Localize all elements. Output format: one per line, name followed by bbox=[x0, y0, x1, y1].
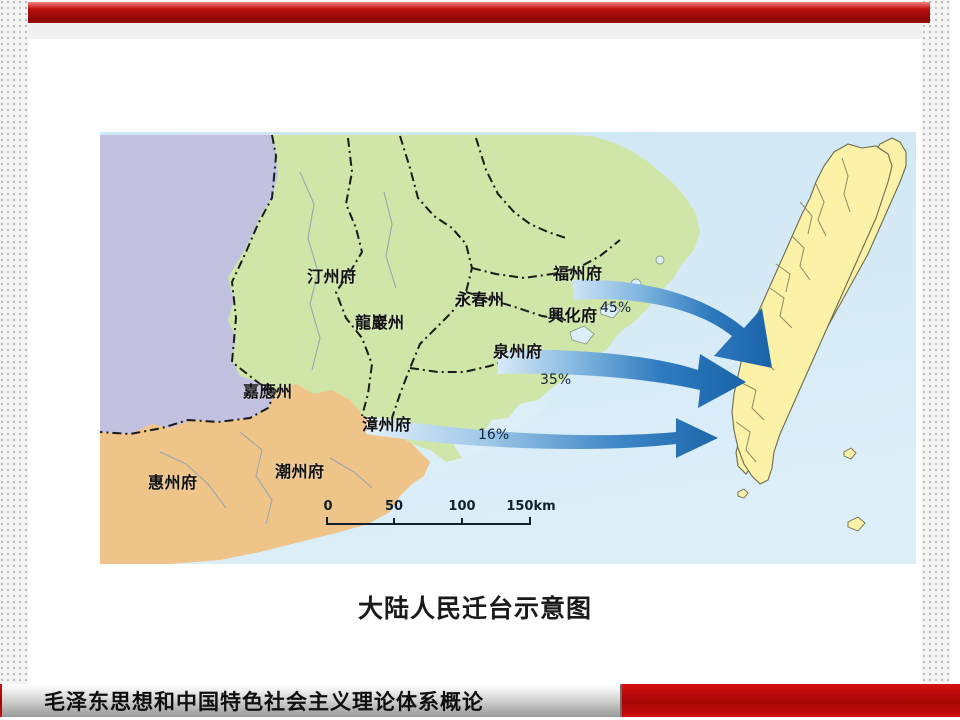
map-label-yongchun: 永春州 bbox=[455, 286, 505, 310]
scale-tick-150: 150km bbox=[506, 499, 555, 514]
map-label-quanzhou: 泉州府 bbox=[493, 338, 543, 362]
figure-caption: 大陆人民迁台示意图 bbox=[28, 589, 922, 625]
map-label-longyan: 龍巖州 bbox=[355, 309, 405, 333]
map-label-jiaying: 嘉應州 bbox=[243, 378, 293, 402]
map-label-fuzhou: 福州府 bbox=[553, 260, 603, 284]
slide-canvas: 汀州府 龍巖州 永春州 福州府 興化府 泉州府 嘉應州 漳州府 潮州府 惠州府 … bbox=[0, 0, 960, 720]
scale-tick-50: 50 bbox=[385, 499, 403, 514]
map-scale-bar: 0 50 100 150km bbox=[326, 499, 531, 533]
scale-tick-0: 0 bbox=[323, 499, 332, 514]
footer-banner: 毛泽东思想和中国特色社会主义理论体系概论 bbox=[0, 684, 960, 720]
footer-title: 毛泽东思想和中国特色社会主义理论体系概论 bbox=[44, 686, 484, 716]
map-label-huizhou: 惠州府 bbox=[148, 469, 198, 493]
map-label-zhangzhou: 漳州府 bbox=[362, 411, 412, 435]
slide-body: 汀州府 龍巖州 永春州 福州府 興化府 泉州府 嘉應州 漳州府 潮州府 惠州府 … bbox=[28, 39, 922, 678]
arrow-label-35: 35% bbox=[540, 372, 571, 388]
map-label-chaozhou: 潮州府 bbox=[275, 458, 325, 482]
slide-body-plate: 汀州府 龍巖州 永春州 福州府 興化府 泉州府 嘉應州 漳州府 潮州府 惠州府 … bbox=[28, 23, 922, 678]
top-accent-bar bbox=[28, 2, 930, 23]
migration-map-figure: 汀州府 龍巖州 永春州 福州府 興化府 泉州府 嘉應州 漳州府 潮州府 惠州府 … bbox=[100, 132, 916, 564]
map-label-tingzhou: 汀州府 bbox=[307, 263, 357, 287]
arrow-label-16: 16% bbox=[478, 427, 509, 443]
scale-tick-labels: 0 50 100 150km bbox=[326, 499, 531, 516]
footer-title-plate: 毛泽东思想和中国特色社会主义理论体系概论 bbox=[2, 684, 622, 717]
arrow-label-45: 45% bbox=[600, 300, 631, 316]
top-accent-bar-gloss bbox=[28, 2, 930, 9]
decorative-strip-right bbox=[922, 0, 950, 690]
decorative-strip-left bbox=[0, 0, 28, 690]
map-label-xinghua: 興化府 bbox=[548, 302, 598, 326]
scale-tick-100: 100 bbox=[448, 499, 475, 514]
